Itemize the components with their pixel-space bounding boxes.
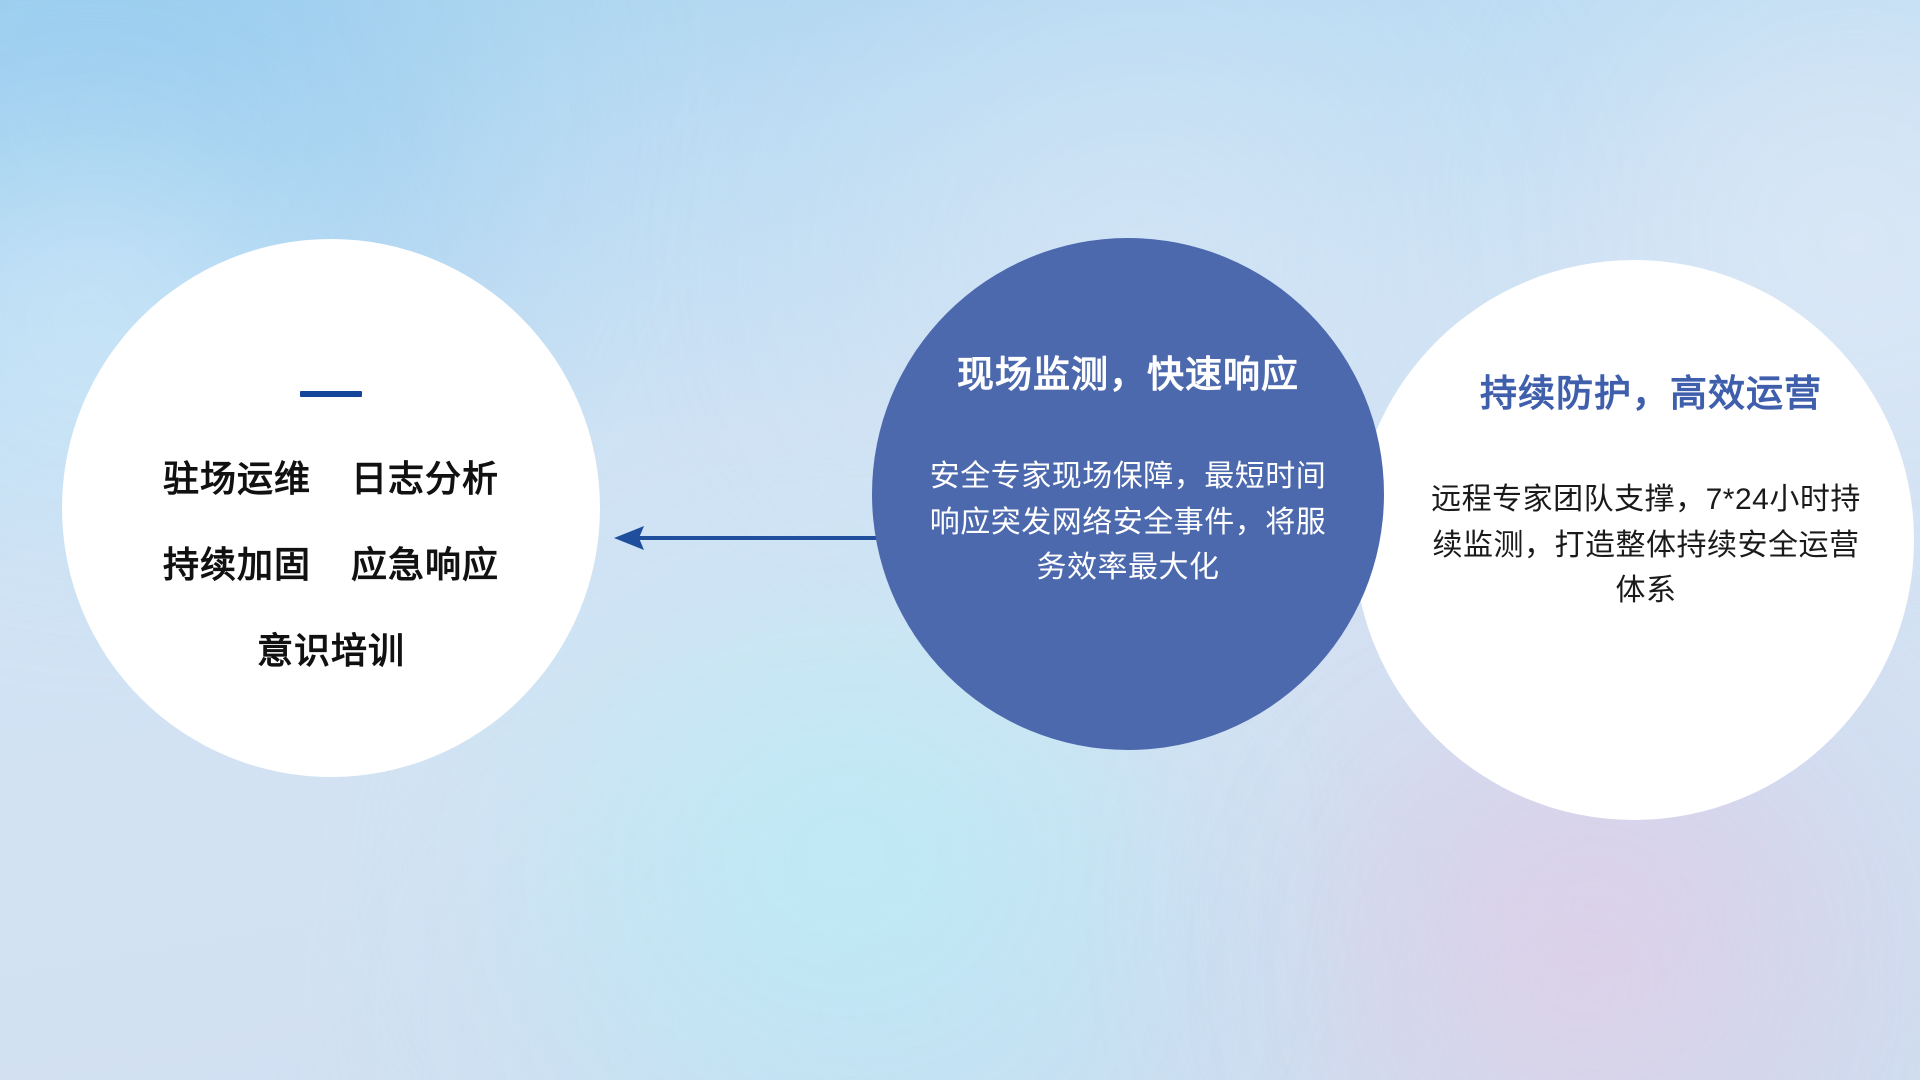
right-circle-body: 远程专家团队支撑，7*24小时持续监测，打造整体持续安全运营体系 <box>1407 477 1861 614</box>
right-operations-circle: 持续防护，高效运营 远程专家团队支撑，7*24小时持续监测，打造整体持续安全运营… <box>1354 260 1914 820</box>
left-circle-item: 日志分析 <box>351 450 499 502</box>
left-capabilities-circle: 驻场运维 日志分析 持续加固 应急响应 意识培训 <box>62 239 600 777</box>
center-monitoring-circle: 现场监测，快速响应 安全专家现场保障，最短时间响应突发网络安全事件，将服务效率最… <box>872 238 1384 750</box>
left-circle-item: 意识培训 <box>257 622 405 674</box>
left-circle-item: 应急响应 <box>351 536 499 588</box>
right-circle-content: 持续防护，高效运营 远程专家团队支撑，7*24小时持续监测，打造整体持续安全运营… <box>1354 260 1914 820</box>
left-circle-text-list: 驻场运维 日志分析 持续加固 应急响应 意识培训 <box>163 450 499 674</box>
right-circle-title: 持续防护，高效运营 <box>1446 363 1822 417</box>
center-circle-content: 现场监测，快速响应 安全专家现场保障，最短时间响应突发网络安全事件，将服务效率最… <box>872 238 1384 750</box>
center-circle-title: 现场监测，快速响应 <box>957 344 1299 398</box>
left-pointing-arrow-icon <box>608 522 894 554</box>
center-circle-body: 安全专家现场保障，最短时间响应突发网络安全事件，将服务效率最大化 <box>928 454 1328 591</box>
slide-canvas: 驻场运维 日志分析 持续加固 应急响应 意识培训 持续防护，高效运营 远程专家团… <box>0 0 1920 1080</box>
left-circle-row: 持续加固 应急响应 <box>163 536 499 588</box>
left-circle-row: 驻场运维 日志分析 <box>163 450 499 502</box>
accent-dash-icon <box>300 391 362 397</box>
left-circle-row: 意识培训 <box>257 622 405 674</box>
left-circle-item: 驻场运维 <box>163 450 311 502</box>
left-circle-item: 持续加固 <box>163 536 311 588</box>
